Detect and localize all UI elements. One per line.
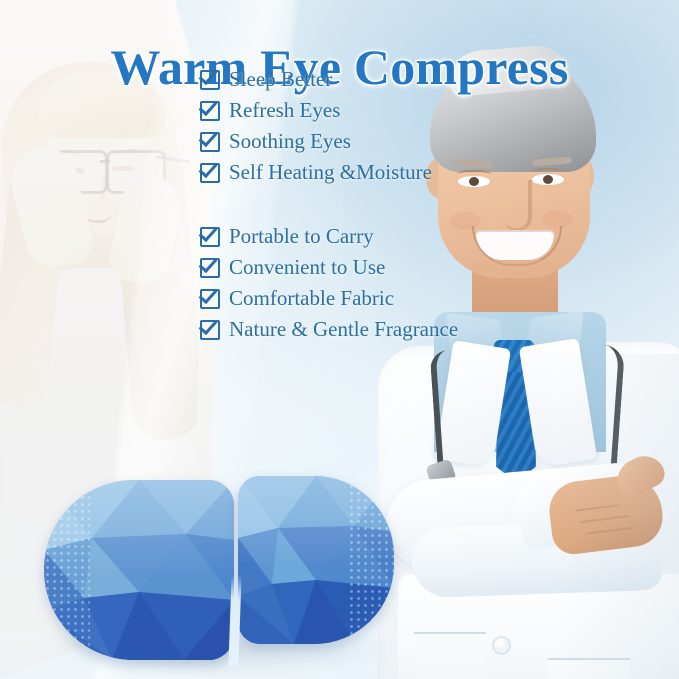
jacket-button — [42, 432, 50, 440]
feature-item: Soothing Eyes — [200, 126, 432, 157]
eyeglass-bridge — [100, 160, 110, 163]
feature-item: Sleep Better — [200, 64, 432, 95]
checked-box-icon — [200, 70, 220, 90]
product-infographic: Warm Eye Compress Sleep Better Refresh E… — [0, 0, 679, 679]
checked-box-icon — [200, 227, 220, 247]
feature-label: Self Heating &Moisture — [229, 160, 432, 185]
feature-label: Comfortable Fabric — [229, 286, 394, 311]
pupil-right — [543, 175, 553, 184]
knuckle-line — [581, 515, 631, 523]
coat-button — [494, 638, 509, 653]
feature-label: Nature & Gentle Fragrance — [229, 317, 458, 342]
feature-label: Convenient to Use — [229, 255, 385, 280]
feature-label: Refresh Eyes — [229, 98, 340, 123]
nose — [504, 180, 532, 231]
product-gloss — [44, 480, 234, 577]
checked-box-icon — [200, 320, 220, 340]
product-gloss — [238, 476, 394, 567]
knuckle-line — [586, 527, 632, 535]
feature-item: Convenient to Use — [200, 252, 458, 283]
checked-box-icon — [200, 132, 220, 152]
eye-mask-product — [44, 470, 394, 670]
eyelid-left — [457, 170, 491, 178]
feature-item: Portable to Carry — [200, 221, 458, 252]
checked-box-icon — [200, 101, 220, 121]
feature-label: Sleep Better — [229, 67, 332, 92]
eye-mask-right-lobe — [238, 476, 394, 644]
eyelid-right — [531, 168, 565, 176]
eye-mask-left-lobe — [44, 480, 234, 660]
coat-pocket-left — [414, 632, 486, 679]
feature-item: Comfortable Fabric — [200, 283, 458, 314]
checked-box-icon — [200, 289, 220, 309]
pupil-left — [469, 177, 479, 186]
checked-box-icon — [200, 258, 220, 278]
feature-label: Soothing Eyes — [229, 129, 351, 154]
feature-list-primary: Sleep Better Refresh Eyes Soothing Eyes … — [200, 64, 432, 188]
feature-item: Self Heating &Moisture — [200, 157, 432, 188]
feature-list-secondary: Portable to Carry Convenient to Use Comf… — [200, 221, 458, 345]
feature-label: Portable to Carry — [229, 224, 374, 249]
feature-item: Nature & Gentle Fragrance — [200, 314, 458, 345]
feature-item: Refresh Eyes — [200, 95, 432, 126]
coat-pocket-right — [548, 658, 630, 679]
checked-box-icon — [200, 163, 220, 183]
knuckle-line — [575, 504, 619, 511]
